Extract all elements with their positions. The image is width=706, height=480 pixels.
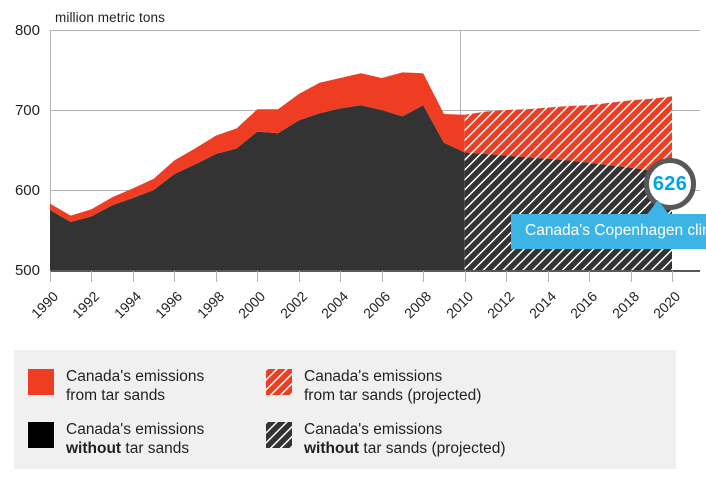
legend-label-without-tar-sands-projected: Canada's emissionswithout tar sands (pro… (304, 420, 506, 458)
x-tickmark-1996 (174, 271, 175, 282)
x-tickmark-1992 (91, 271, 92, 282)
legend-item-tar-sands-projected[interactable]: Canada's emissionsfrom tar sands (projec… (266, 367, 481, 405)
x-tickmark-2000 (257, 271, 258, 282)
legend-label-tar-sands: Canada's emissionsfrom tar sands (66, 367, 204, 405)
commitment-tooltip: Canada's Copenhagen climate commitment (511, 214, 706, 249)
legend-item-without-tar-sands-projected[interactable]: Canada's emissionswithout tar sands (pro… (266, 420, 506, 458)
area-without-tarsands-projected (465, 152, 672, 270)
x-tickmark-1998 (216, 271, 217, 282)
legend-label-without-tar-sands: Canada's emissionswithout tar sands (66, 420, 204, 458)
x-tickmark-2018 (631, 271, 632, 282)
legend-swatch-hatch-orange (266, 369, 292, 395)
x-tickmark-2016 (589, 271, 590, 282)
legend-swatch-hatch-black (266, 422, 292, 448)
x-tickmark-2020 (672, 271, 673, 282)
chart-plot-area: million metric tons 800 700 600 500 (0, 0, 706, 340)
legend-label-tar-sands-projected: Canada's emissionsfrom tar sands (projec… (304, 367, 481, 405)
area-series-svg (0, 0, 706, 340)
x-tickmark-2008 (423, 271, 424, 282)
x-tickmark-1994 (133, 271, 134, 282)
x-tickmark-2014 (548, 271, 549, 282)
x-tickmark-2012 (506, 271, 507, 282)
legend-swatch-solid-orange (28, 369, 54, 395)
x-tickmark-2006 (382, 271, 383, 282)
x-tickmark-2004 (340, 271, 341, 282)
x-tickmark-2010 (465, 271, 466, 282)
chart-legend: Canada's emissionsfrom tar sands Canada'… (14, 350, 676, 469)
legend-item-without-tar-sands[interactable]: Canada's emissionswithout tar sands (28, 420, 204, 458)
x-tickmark-1990 (50, 271, 51, 282)
x-tickmark-2002 (299, 271, 300, 282)
legend-swatch-solid-black (28, 422, 54, 448)
legend-item-tar-sands[interactable]: Canada's emissionsfrom tar sands (28, 367, 204, 405)
infographic-chart: million metric tons 800 700 600 500 (0, 0, 706, 480)
